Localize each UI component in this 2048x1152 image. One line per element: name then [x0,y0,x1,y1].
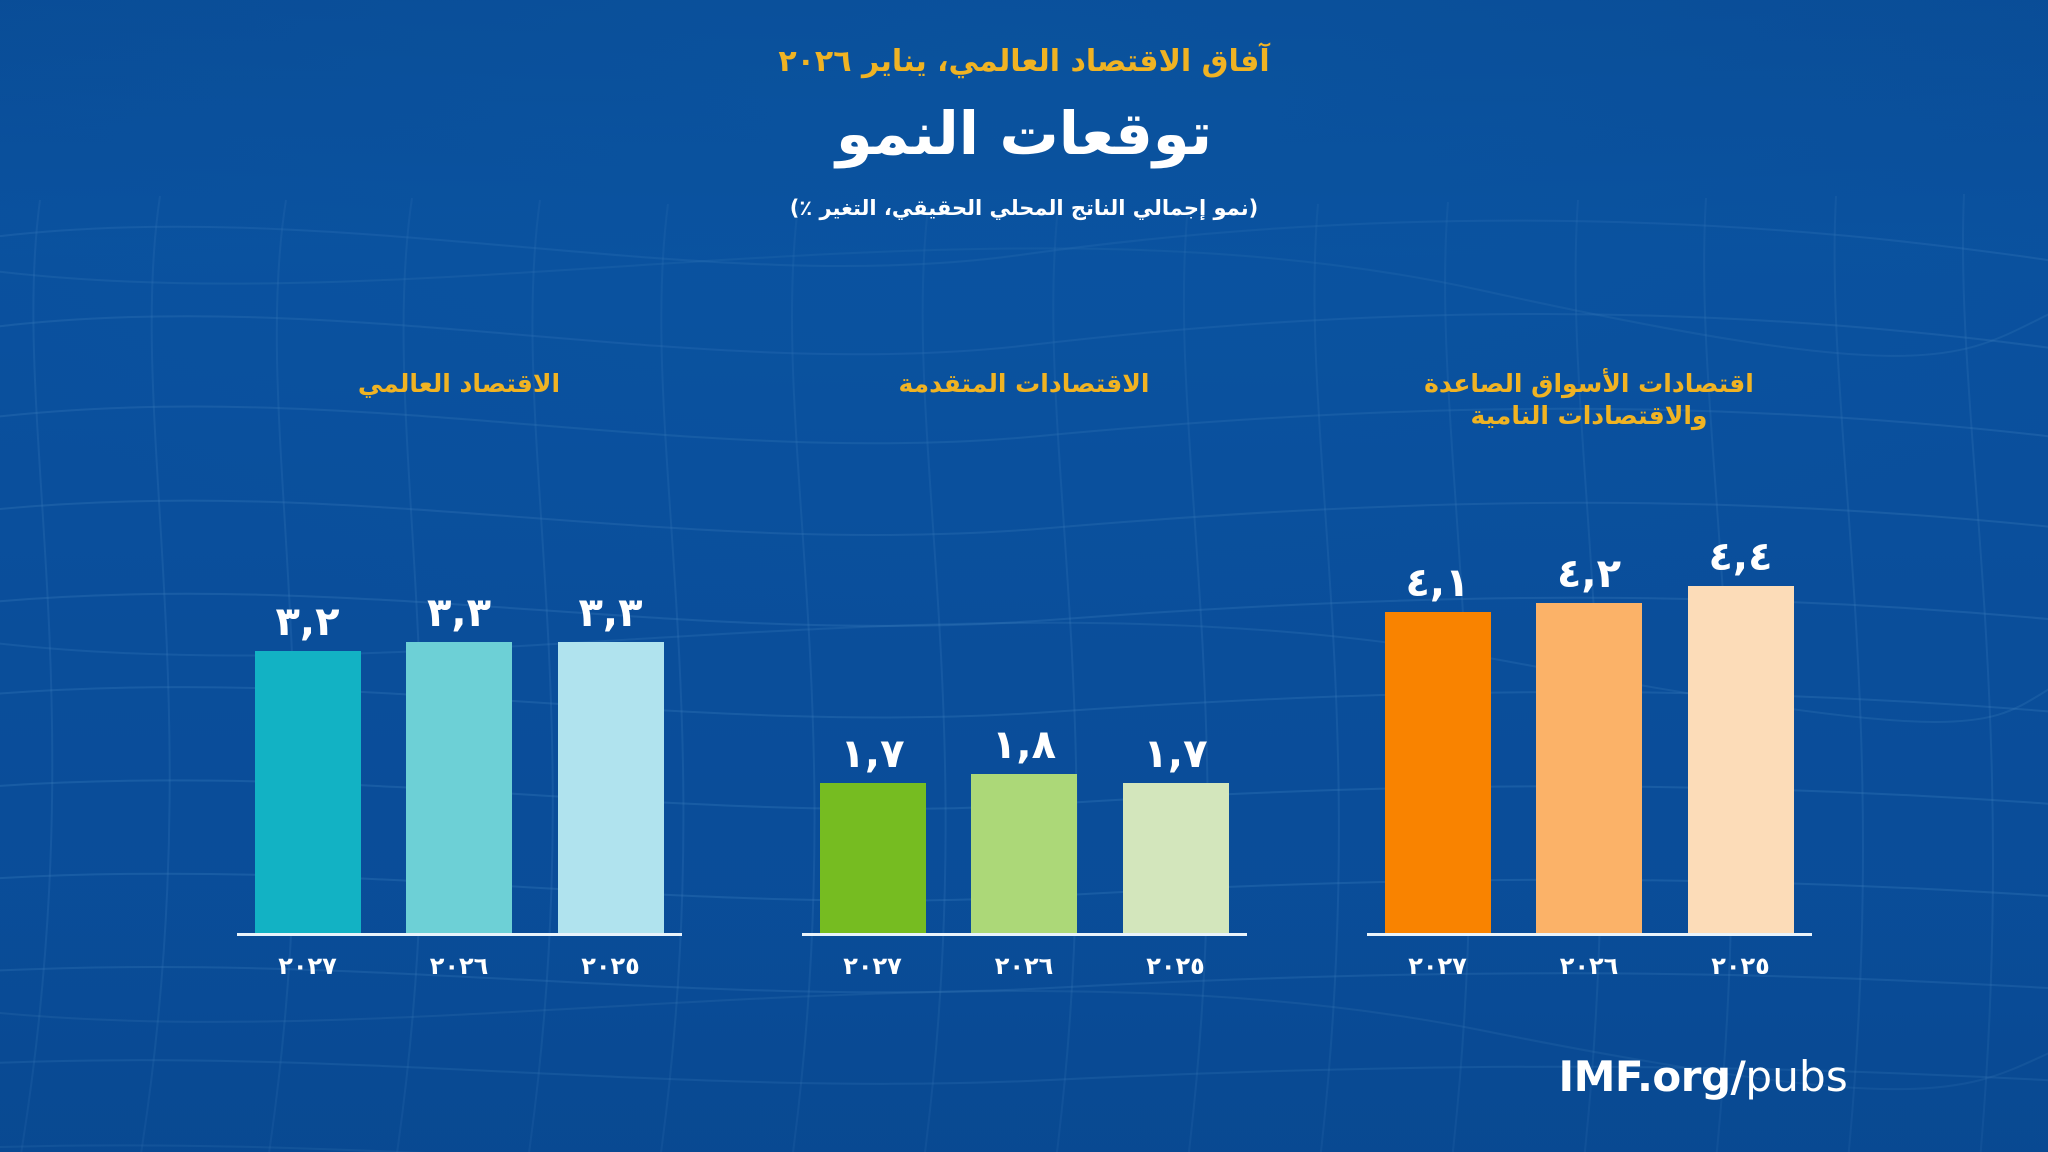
bar-value-label: ٣,٣ [427,593,491,633]
bar-rect [255,651,361,934]
bar-column: ٤,٤ [1688,504,1794,934]
page-subtitle: (نمو إجمالي الناتج المحلي الحقيقي، التغي… [0,196,2048,221]
panel-title-line1: الاقتصاد العالمي [358,369,560,398]
bar-rect [558,642,664,934]
bar-column: ٤,٢ [1536,504,1642,934]
x-tick-label: ٢٠٢٥ [1123,952,1229,980]
plot-area-advanced-economies: ١,٧ ١,٨ ١,٧ ٢٠٢٧ ٢٠٢٦ ٢٠٢ [742,464,1307,986]
bar-value-label: ١,٧ [840,734,904,774]
x-tick-label: ٢٠٢٦ [971,952,1077,980]
bar-column: ٣,٣ [406,504,512,934]
x-axis-labels: ٢٠٢٧ ٢٠٢٦ ٢٠٢٥ [1385,952,1794,980]
bar-column: ٣,٢ [255,504,361,934]
panel-title-line1: الاقتصادات المتقدمة [898,369,1149,398]
x-tick-label: ٢٠٢٧ [255,952,361,980]
plot-area-emerging-economies: ٤,١ ٤,٢ ٤,٤ ٢٠٢٧ ٢٠٢٦ ٢٠٢ [1307,464,1872,986]
chart-panel-world-economy: الاقتصاد العالمي ٣,٢ ٣,٣ ٣,٣ [177,368,742,988]
bar-rect [820,783,926,934]
chart-panel-advanced-economies: الاقتصادات المتقدمة ١,٧ ١,٨ ١,٧ [742,368,1307,988]
x-tick-label: ٢٠٢٥ [558,952,664,980]
bar-value-label: ٤,١ [1405,563,1469,603]
infographic-canvas: آفاق الاقتصاد العالمي، يناير ٢٠٢٦ توقعات… [0,0,2048,1152]
panel-title-emerging-economies: اقتصادات الأسواق الصاعدة والاقتصادات الن… [1307,368,1872,438]
bar-column: ١,٧ [1123,504,1229,934]
x-tick-label: ٢٠٢٦ [1536,952,1642,980]
panel-title-advanced-economies: الاقتصادات المتقدمة [742,368,1307,438]
bar-value-label: ٣,٢ [275,602,339,642]
x-tick-label: ٢٠٢٧ [1385,952,1491,980]
bar-rect [971,774,1077,934]
imf-org-text: IMF.org/ [1559,1052,1746,1101]
bar-value-label: ٤,٢ [1557,554,1621,594]
panel-title-world-economy: الاقتصاد العالمي [177,368,742,438]
bar-value-label: ٤,٤ [1708,537,1772,577]
bar-rect [406,642,512,934]
bar-value-label: ١,٨ [992,725,1056,765]
report-eyebrow: آفاق الاقتصاد العالمي، يناير ٢٠٢٦ [0,44,2048,80]
bar-rect [1123,783,1229,934]
page-title: توقعات النمو [0,100,2048,168]
imf-pubs-link[interactable]: IMF.org/pubs [1559,1056,1849,1098]
bar-value-label: ٣,٣ [578,593,642,633]
footer: IMF.org/pubs [1559,1056,1849,1098]
bar-value-label: ١,٧ [1143,734,1207,774]
bar-group-advanced-economies: ١,٧ ١,٨ ١,٧ [820,504,1229,934]
bar-group-emerging-economies: ٤,١ ٤,٢ ٤,٤ [1385,504,1794,934]
x-axis-line [237,933,682,936]
bar-rect [1536,603,1642,934]
x-axis-line [1367,933,1812,936]
pubs-text: pubs [1745,1052,1848,1101]
bar-column: ١,٧ [820,504,926,934]
charts-row: الاقتصاد العالمي ٣,٢ ٣,٣ ٣,٣ [0,368,2048,988]
panel-title-line1: اقتصادات الأسواق الصاعدة [1424,369,1754,398]
x-axis-line [802,933,1247,936]
x-tick-label: ٢٠٢٧ [820,952,926,980]
x-axis-labels: ٢٠٢٧ ٢٠٢٦ ٢٠٢٥ [255,952,664,980]
x-axis-labels: ٢٠٢٧ ٢٠٢٦ ٢٠٢٥ [820,952,1229,980]
panel-title-line2: والاقتصادات النامية [1327,400,1852,432]
chart-panel-emerging-economies: اقتصادات الأسواق الصاعدة والاقتصادات الن… [1307,368,1872,988]
bar-column: ١,٨ [971,504,1077,934]
header: آفاق الاقتصاد العالمي، يناير ٢٠٢٦ توقعات… [0,0,2048,221]
bar-group-world-economy: ٣,٢ ٣,٣ ٣,٣ [255,504,664,934]
x-tick-label: ٢٠٢٦ [406,952,512,980]
bar-column: ٤,١ [1385,504,1491,934]
x-tick-label: ٢٠٢٥ [1688,952,1794,980]
bar-rect [1688,586,1794,934]
plot-area-world-economy: ٣,٢ ٣,٣ ٣,٣ ٢٠٢٧ ٢٠٢٦ ٢٠٢ [177,464,742,986]
bar-rect [1385,612,1491,934]
bar-column: ٣,٣ [558,504,664,934]
